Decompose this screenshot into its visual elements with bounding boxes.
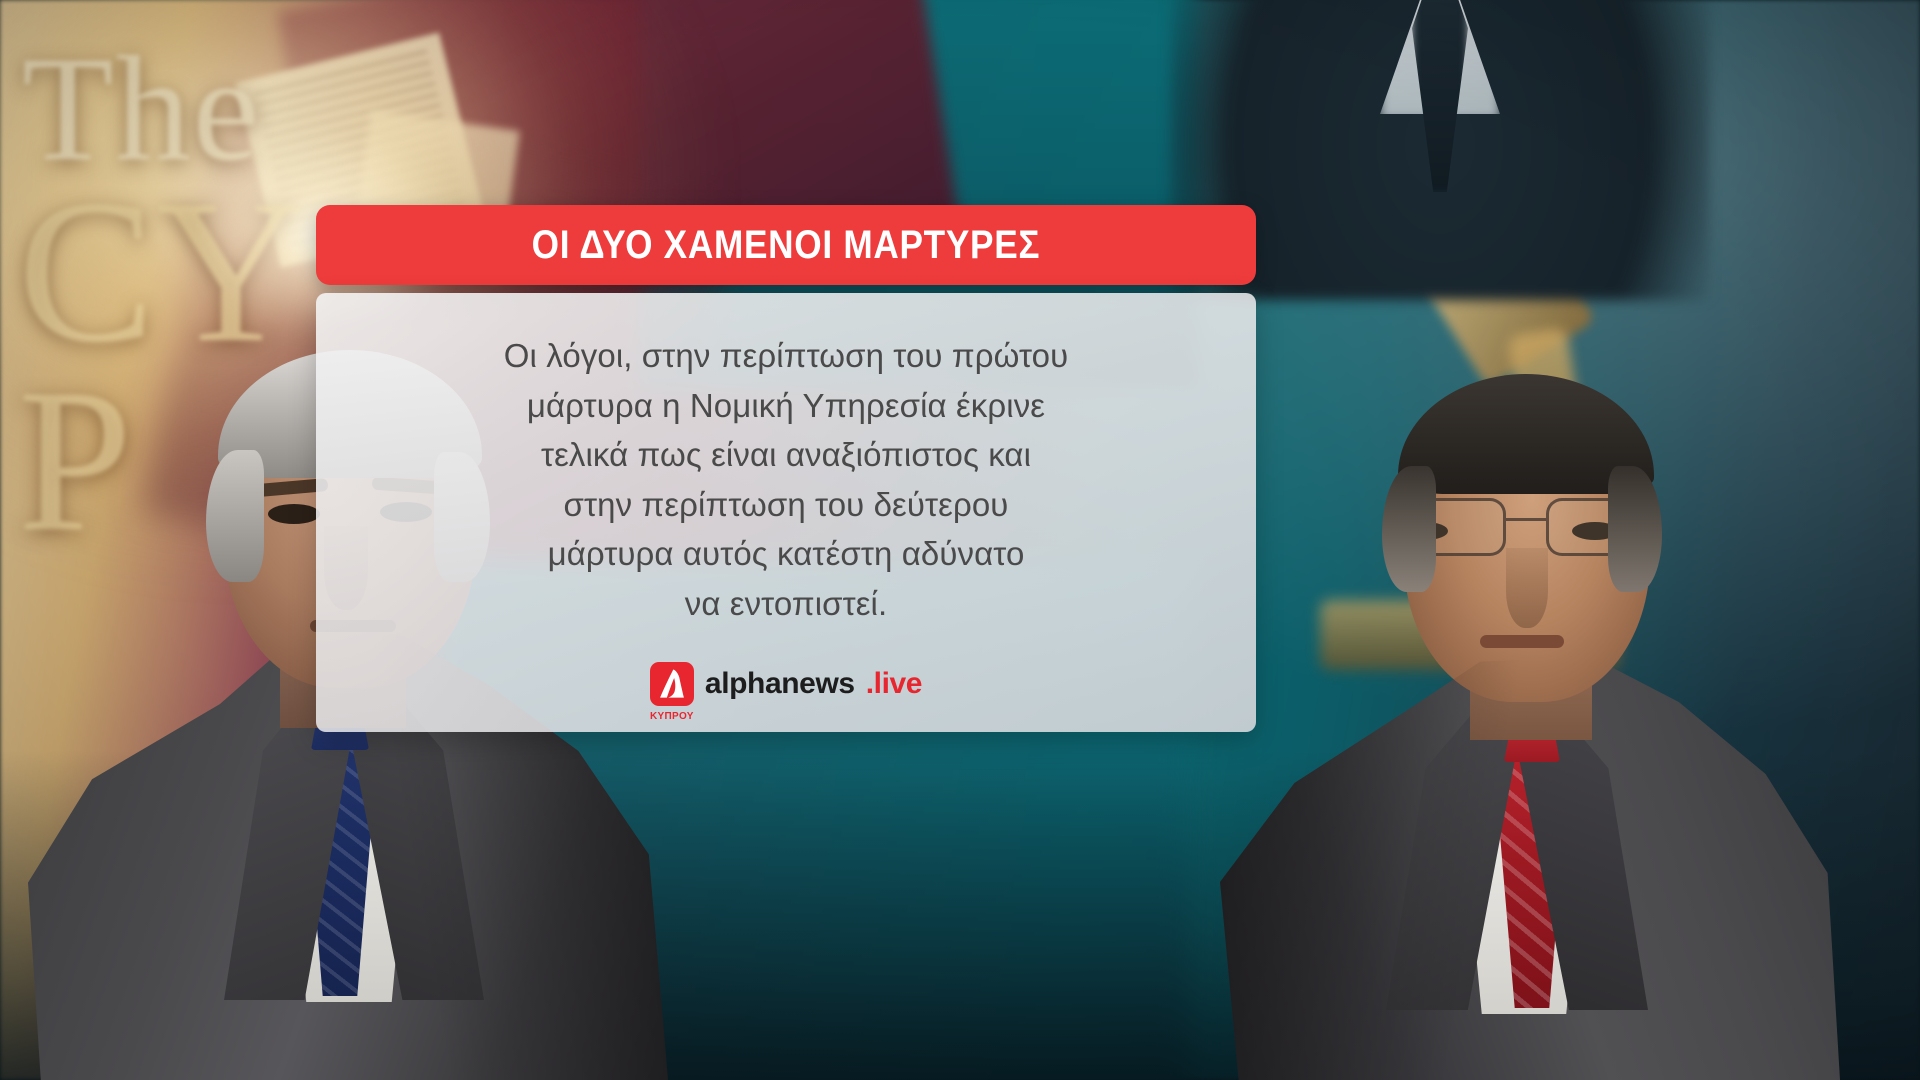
alpha-logo-icon: ΚΥΠΡΟΥ: [650, 662, 694, 706]
body-text-line: Οι λόγοι, στην περίπτωση του πρώτου: [504, 331, 1068, 381]
body-text-line: τελικά πως είναι αναξιόπιστος και: [504, 430, 1068, 480]
person-left-eye-left: [268, 504, 320, 524]
logo-tld: .live: [866, 667, 922, 701]
person-left-hair-side-left: [206, 450, 264, 582]
body-text-line: να εντοπιστεί.: [504, 579, 1068, 629]
person-right-hair-side-left: [1382, 466, 1436, 592]
person-right-hair-side-right: [1608, 466, 1662, 592]
logo-sublabel: ΚΥΠΡΟΥ: [650, 711, 694, 722]
news-graphic-stage: The CY P: [0, 0, 1920, 1080]
site-logo[interactable]: ΚΥΠΡΟΥ alphanews .live: [650, 662, 922, 706]
body-text-line: στην περίπτωση του δεύτερου: [504, 480, 1068, 530]
headline-banner: ΟΙ ΔΥΟ ΧΑΜΕΝΟΙ ΜΑΡΤΥΡΕΣ: [316, 205, 1256, 285]
person-right-nose: [1506, 548, 1548, 628]
body-text-line: μάρτυρα αυτός κατέστη αδύνατο: [504, 529, 1068, 579]
logo-wordmark: alphanews: [705, 667, 855, 701]
headline-title: ΟΙ ΔΥΟ ΧΑΜΕΝΟΙ ΜΑΡΤΥΡΕΣ: [532, 223, 1041, 268]
person-right-mouth: [1480, 635, 1564, 648]
body-panel: Οι λόγοι, στην περίπτωση του πρώτου μάρτ…: [316, 293, 1256, 732]
body-text: Οι λόγοι, στην περίπτωση του πρώτου μάρτ…: [504, 331, 1068, 628]
person-photo-right: [1220, 260, 1840, 1080]
headline-card: ΟΙ ΔΥΟ ΧΑΜΕΝΟΙ ΜΑΡΤΥΡΕΣ Οι λόγοι, στην π…: [316, 205, 1256, 732]
person-right-shading: [1220, 630, 1840, 1080]
body-text-line: μάρτυρα η Νομική Υπηρεσία έκρινε: [504, 381, 1068, 431]
